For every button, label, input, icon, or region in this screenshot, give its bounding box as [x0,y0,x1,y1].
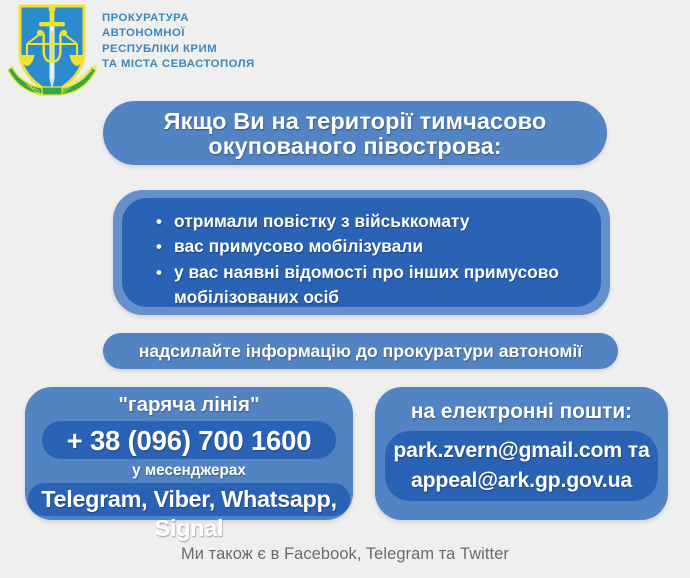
organization-name-line-2: Автономної [102,26,255,41]
list-item: • вас примусово мобілізували [156,234,585,259]
email-address-primary: park.zvern@gmail.com та [385,435,658,465]
organization-name: Прокуратура Автономної Республіки Крим т… [102,11,255,73]
list-item-label: вас примусово мобілізували [174,234,585,259]
bullet-panel: • отримали повістку з військкомату • вас… [122,198,601,307]
organization-name-line-3: Республіки Крим [102,42,255,57]
hotline-panel: "гаряча лінія" + 38 (096) 700 1600 у мес… [25,387,353,520]
messengers-list: Telegram, Viber, Whatsapp, Signal [28,483,350,516]
messengers-list-label: Telegram, Viber, Whatsapp, Signal [41,486,337,541]
list-item: • у вас наявні відомості про інших приму… [156,260,585,311]
hotline-label: "гаряча лінія" [25,393,353,417]
bullet-dot-icon: • [156,209,174,234]
social-networks-note: Ми також є в Facebook, Telegram та Twitt… [181,545,509,563]
emblem-wrap: ЗАКОННІСТЬ СПРАВЕДЛИВІСТЬ [6,0,98,96]
footer: Ми також є в Facebook, Telegram та Twitt… [0,545,690,564]
list-item: • отримали повістку з військкомату [156,209,585,234]
header: ЗАКОННІСТЬ СПРАВЕДЛИВІСТЬ Прокуратура Ав… [0,0,690,96]
hotline-phone-number[interactable]: + 38 (096) 700 1600 [42,421,336,459]
messengers-label: у месенджерах [25,462,353,480]
prosecutors-office-emblem-icon: ЗАКОННІСТЬ СПРАВЕДЛИВІСТЬ [6,0,98,96]
organization-name-line-1: Прокуратура [102,11,255,26]
title-banner-line-2: окупованого півострова: [103,134,607,159]
email-address-secondary: appeal@ark.gp.gov.ua [385,465,658,495]
send-information-banner: надсилайте інформацію до прокуратури авт… [103,333,618,369]
hotline-phone-number-label: + 38 (096) 700 1600 [67,425,312,456]
list-item-label: у вас наявні відомості про інших примусо… [174,260,585,311]
list-item-label: отримали повістку з військкомату [174,209,585,234]
bullet-dot-icon: • [156,234,174,259]
title-banner: Якщо Ви на території тимчасово окуповано… [103,101,607,165]
organization-name-line-4: та міста Севастополя [102,57,255,72]
bullet-dot-icon: • [156,260,174,311]
send-information-label: надсилайте інформацію до прокуратури авт… [139,341,583,361]
email-label: на електронні пошти: [375,400,668,424]
bullet-panel-frame: • отримали повістку з військкомату • вас… [113,190,610,315]
email-panel: на електронні пошти: park.zvern@gmail.co… [375,387,668,520]
email-addresses[interactable]: park.zvern@gmail.com та appeal@ark.gp.go… [385,431,658,501]
title-banner-line-1: Якщо Ви на території тимчасово [103,109,607,134]
